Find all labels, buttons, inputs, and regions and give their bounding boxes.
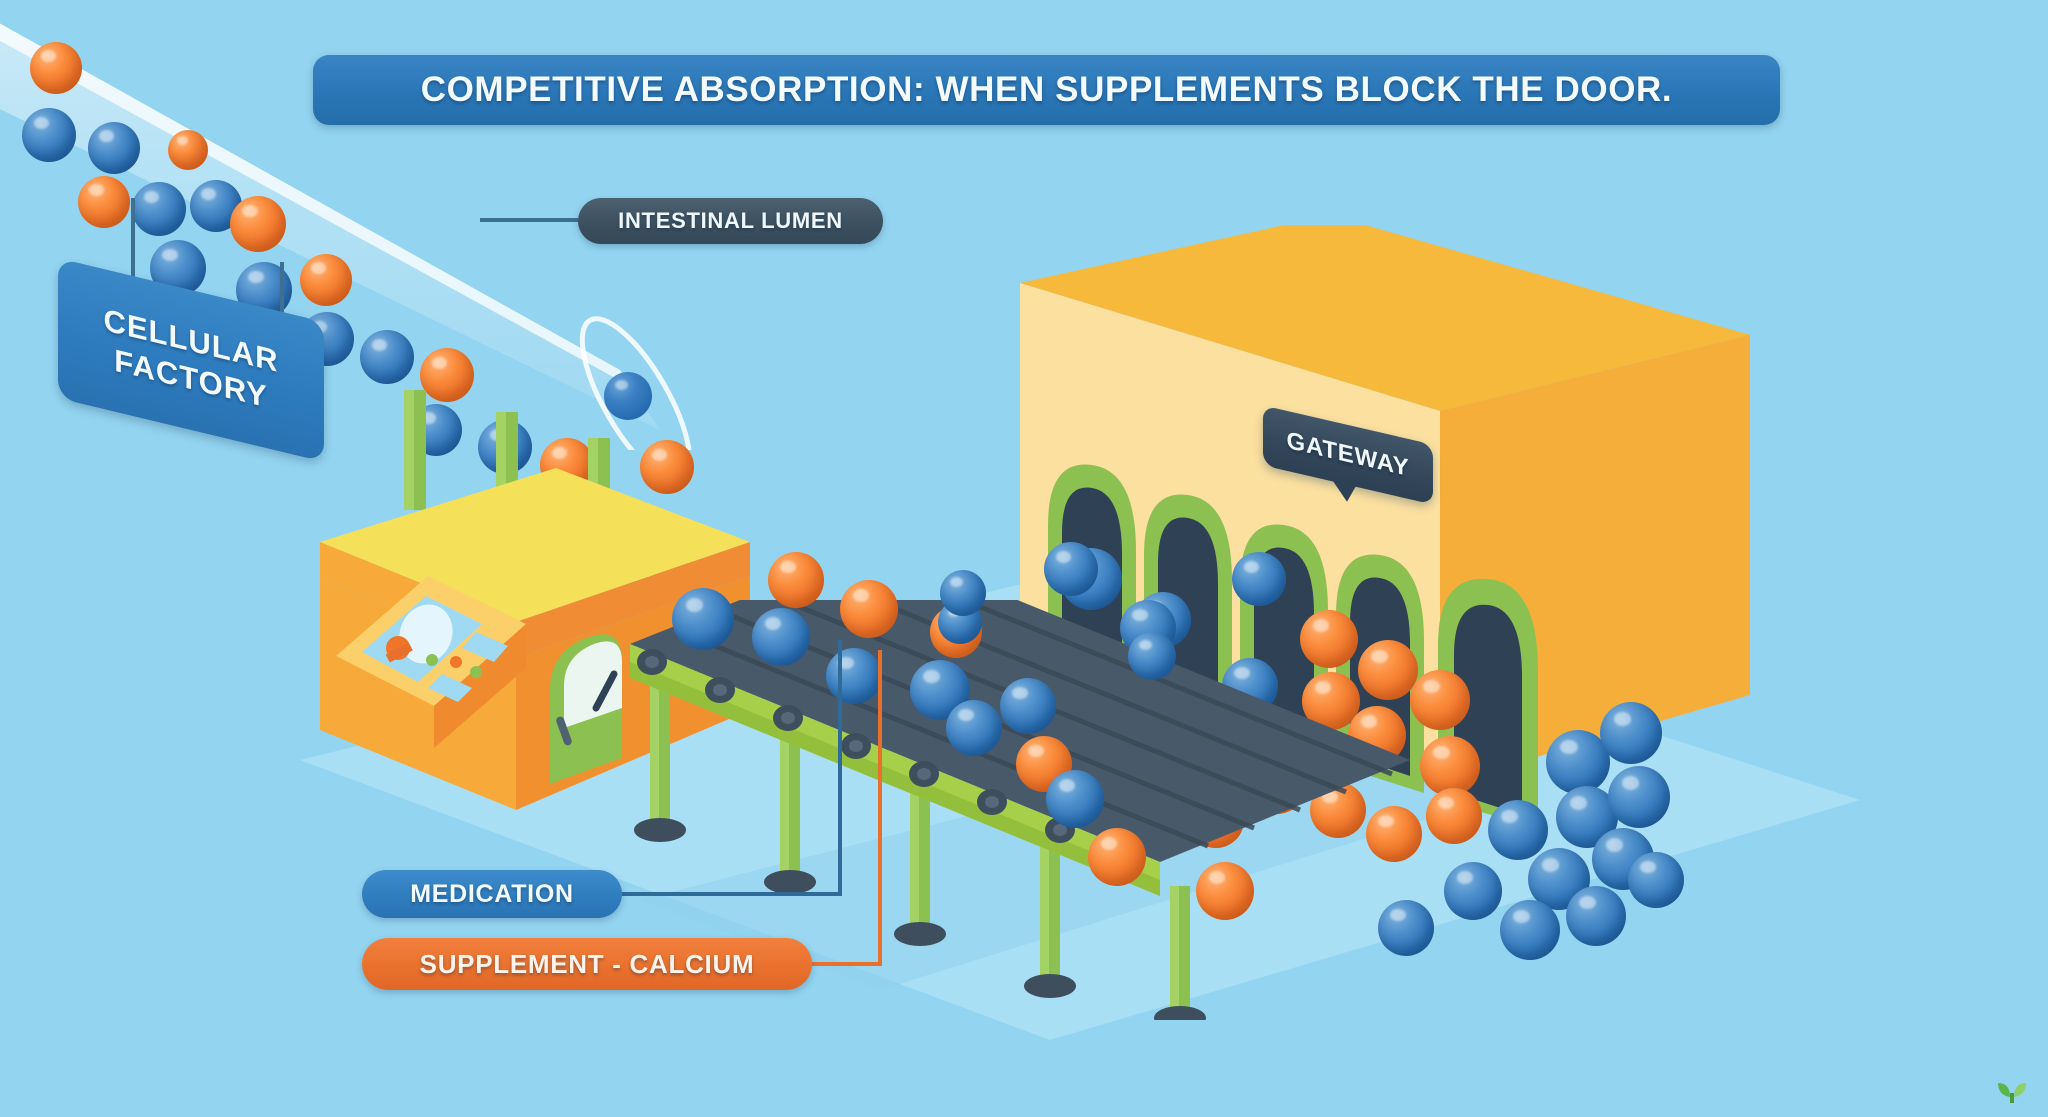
leader-supplement <box>812 650 880 964</box>
leader-medication <box>622 640 840 894</box>
legend-supplement-text: SUPPLEMENT - CALCIUM <box>420 949 755 980</box>
label-intestinal-lumen-text: INTESTINAL LUMEN <box>618 208 843 234</box>
legend-item-supplement[interactable]: SUPPLEMENT - CALCIUM <box>362 938 812 990</box>
label-gateway-text: GATEWAY <box>1287 427 1410 483</box>
brand-logo-icon <box>1992 1067 2032 1107</box>
legend-item-medication[interactable]: MEDICATION <box>362 870 622 918</box>
leader-lines <box>0 0 2048 1117</box>
label-intestinal-lumen[interactable]: INTESTINAL LUMEN <box>578 198 883 244</box>
page-title: COMPETITIVE ABSORPTION: WHEN SUPPLEMENTS… <box>313 55 1780 125</box>
page-title-text: COMPETITIVE ABSORPTION: WHEN SUPPLEMENTS… <box>421 70 1673 110</box>
infographic-canvas: COMPETITIVE ABSORPTION: WHEN SUPPLEMENTS… <box>0 0 2048 1117</box>
legend-medication-text: MEDICATION <box>410 880 573 909</box>
